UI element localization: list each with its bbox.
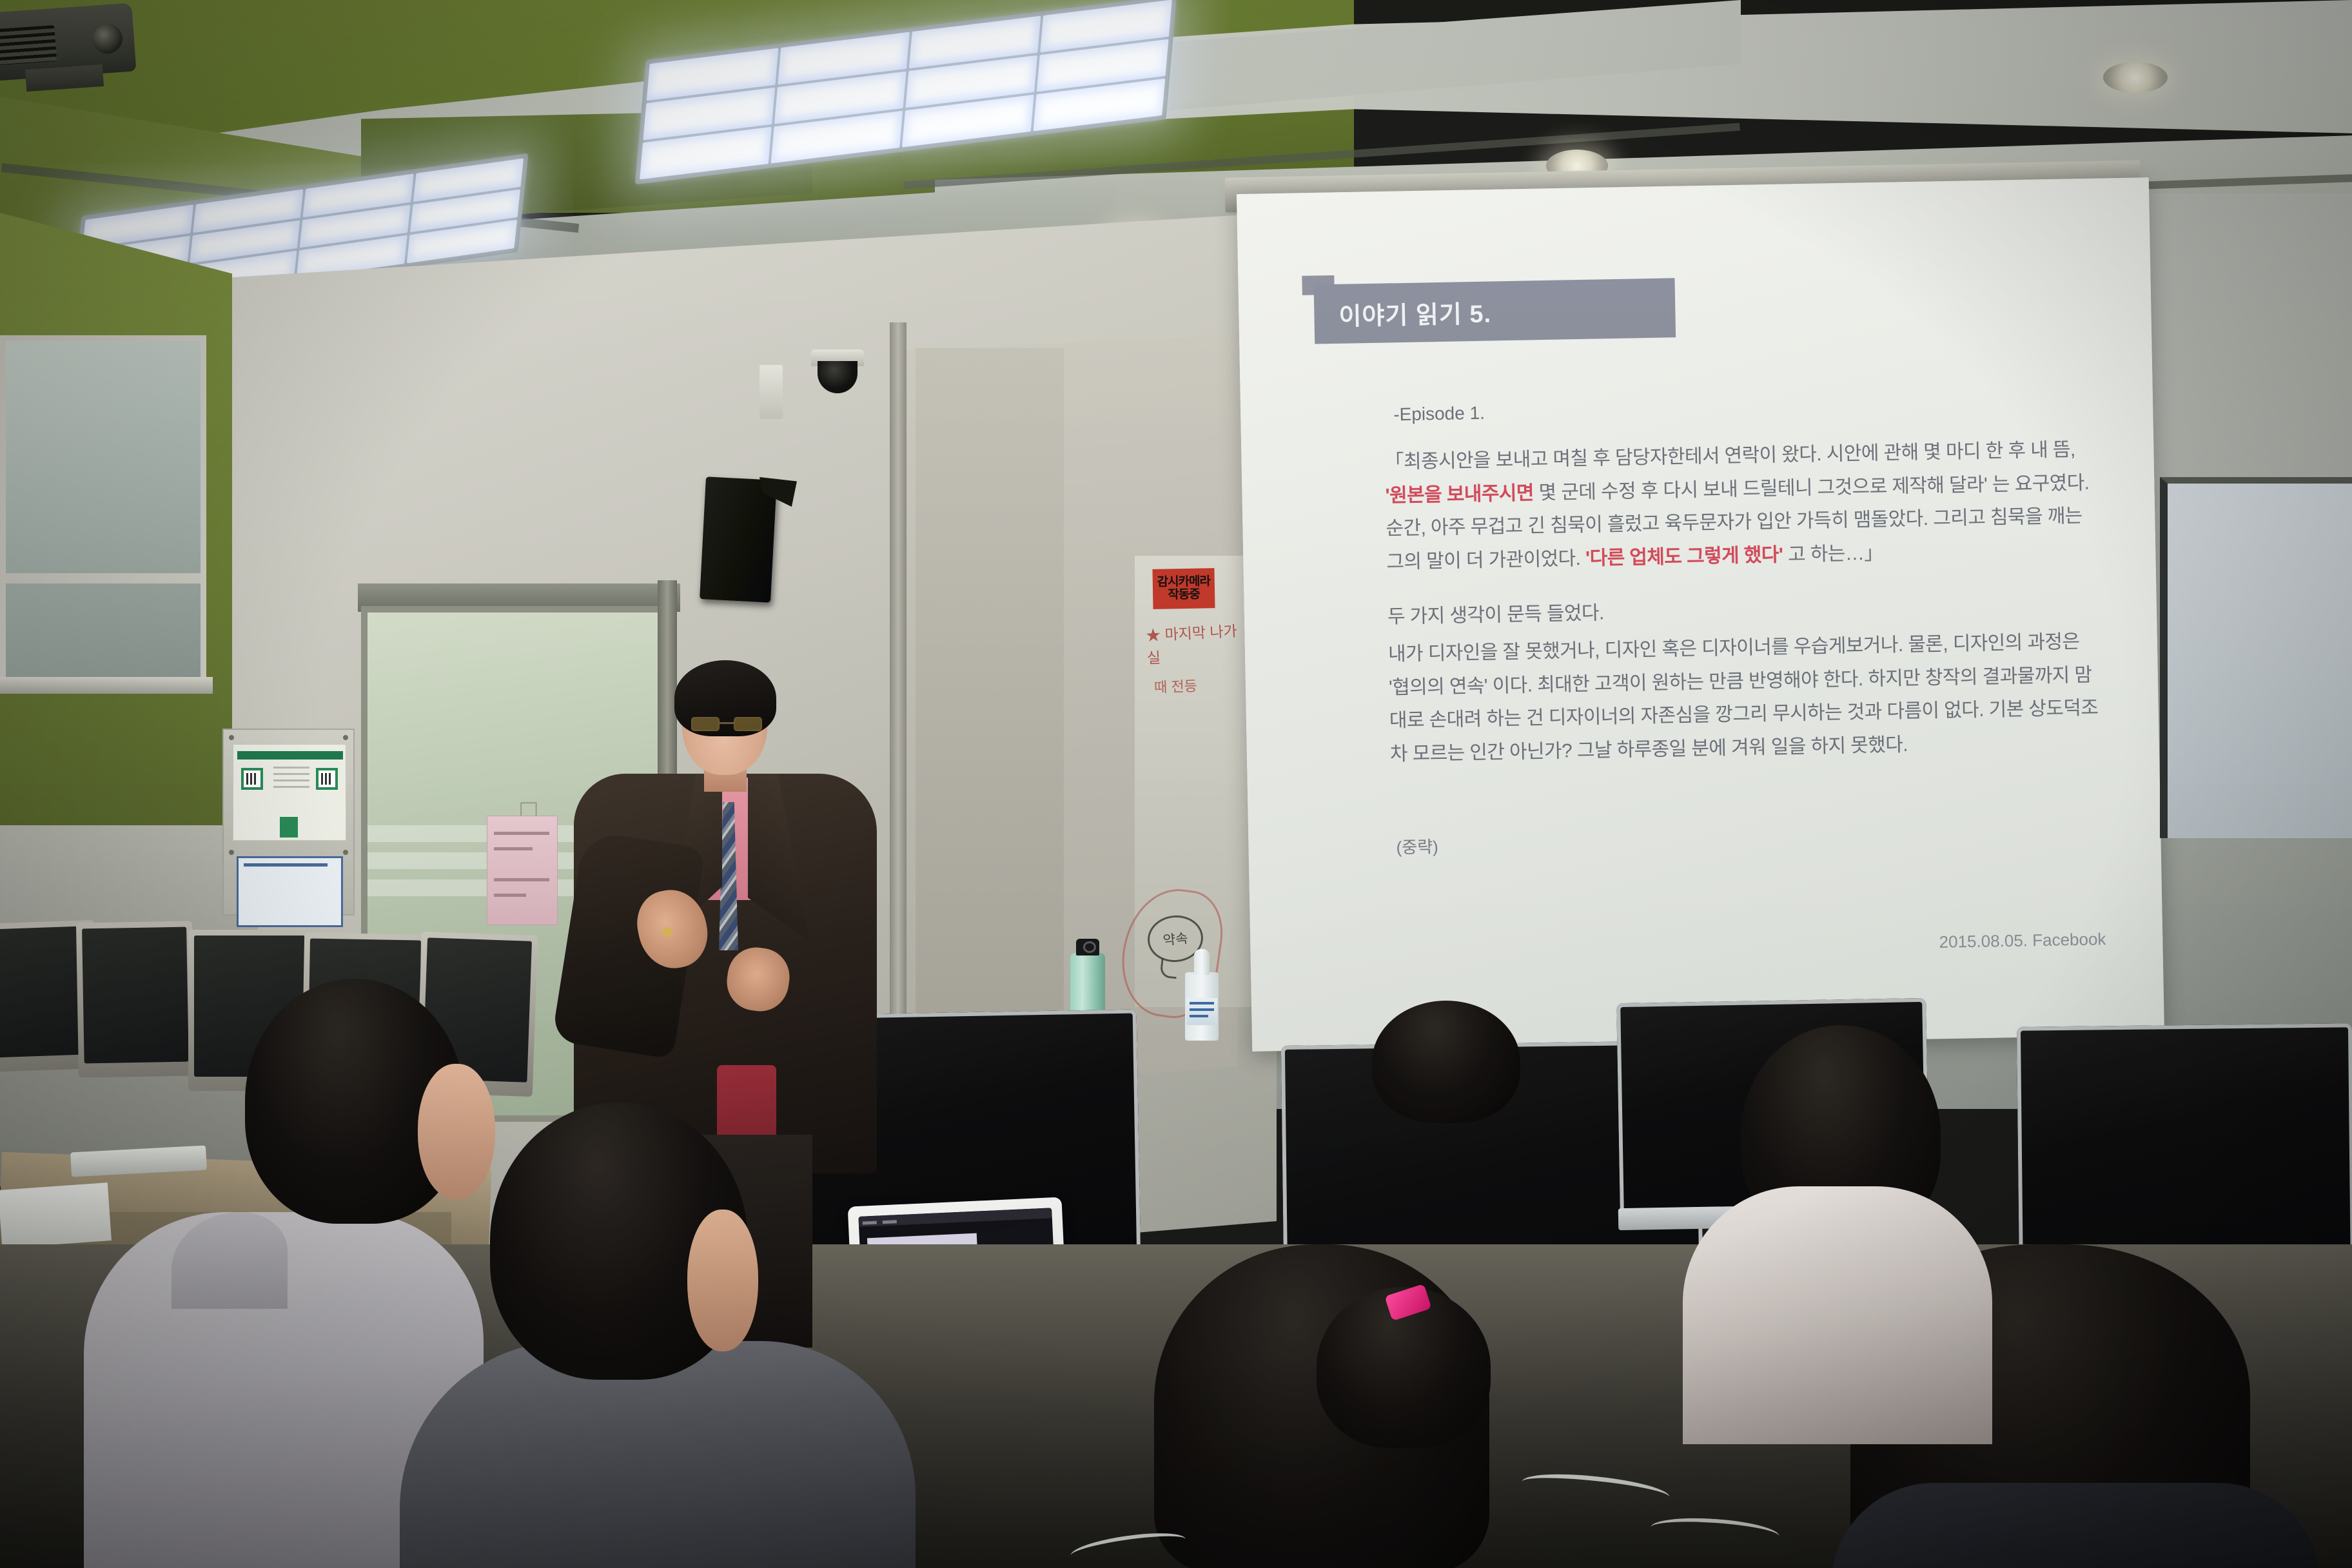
sanitizer-pump bbox=[1194, 949, 1210, 975]
sanitizer-label bbox=[1186, 998, 1217, 1025]
paper-left bbox=[0, 1182, 112, 1248]
window-sill bbox=[0, 677, 213, 694]
p1-part-c: 고 하는…」 bbox=[1783, 542, 1883, 565]
student-5-torso bbox=[1831, 1483, 2321, 1568]
wall-beam bbox=[890, 322, 906, 1128]
ring-icon bbox=[663, 927, 672, 937]
slide-source-line: 2015.08.05. Facebook bbox=[1939, 929, 2106, 952]
student-7-hair bbox=[1372, 1001, 1520, 1123]
seal-icon bbox=[280, 817, 298, 838]
p1-highlight-b: '다른 업체도 그렇게 했다' bbox=[1585, 544, 1783, 569]
student-2-face bbox=[687, 1210, 758, 1351]
slide-omission-marker: (중략) bbox=[1396, 834, 1438, 858]
wall-poster bbox=[237, 856, 343, 927]
monitor-left-2 bbox=[76, 921, 195, 1077]
cctv-sign-line2: 작동중 bbox=[1168, 589, 1200, 602]
window-glass bbox=[6, 341, 201, 678]
p1-highlight-a: '원본을 보내주시면 bbox=[1385, 482, 1534, 506]
recessed-downlight bbox=[2103, 62, 2168, 93]
whiteboard bbox=[2160, 477, 2352, 838]
wall-notice-board bbox=[222, 729, 355, 916]
bottle-cap bbox=[1076, 939, 1099, 955]
handwritten-note-1: ★ 마지막 나가실 bbox=[1145, 620, 1244, 669]
projector-lens-icon bbox=[92, 23, 123, 55]
projected-slide: 이야기 읽기 5. -Episode 1. 「최종시안을 보내고 며칠 후 담당… bbox=[1314, 270, 2133, 1026]
slide-paragraph-1: 「최종시안을 보내고 며칠 후 담당자한테서 연락이 왔다. 시안에 관해 몇 … bbox=[1384, 433, 2102, 579]
student-1-face bbox=[418, 1064, 495, 1199]
window bbox=[0, 335, 206, 683]
slide-title: 이야기 읽기 5. bbox=[1338, 293, 1492, 331]
handwritten-note-2: 때 전등 bbox=[1153, 672, 1257, 697]
qr-code-icon bbox=[241, 768, 263, 790]
classroom-photo:  감시카메라 작동중 ★ 마지막 나가실 때 전등 약속 bbox=[0, 0, 2352, 1568]
glasses-icon bbox=[691, 717, 763, 731]
cctv-sign-line1: 감시카메라 bbox=[1157, 575, 1210, 589]
laptop-menubar bbox=[858, 1208, 1052, 1227]
wall-speaker bbox=[700, 476, 777, 602]
door-poster bbox=[487, 816, 558, 925]
emergency-light bbox=[759, 365, 783, 419]
projector-vents bbox=[0, 25, 57, 65]
slide-episode-label: -Episode 1. bbox=[1393, 403, 1485, 426]
qr-code-icon bbox=[316, 768, 338, 790]
cctv-warning-sign: 감시카메라 작동중 bbox=[1152, 568, 1215, 609]
window-mullion bbox=[6, 573, 201, 583]
slide-body-text: 「최종시안을 보내고 며칠 후 담당자한테서 연락이 왔다. 시안에 관해 몇 … bbox=[1384, 433, 2106, 793]
certificate-plaque bbox=[233, 744, 346, 841]
slide-header-banner: 이야기 읽기 5. bbox=[1314, 278, 1676, 344]
p1-part-a: 「최종시안을 보내고 며칠 후 담당자한테서 연락이 왔다. 시안에 관해 몇 … bbox=[1384, 439, 2075, 473]
wall-panel-b bbox=[916, 348, 1064, 1025]
student-6-torso bbox=[1683, 1186, 1992, 1444]
slide-paragraph-2-line-2: 내가 디자인을 잘 못했거나, 디자인 혹은 디자이너를 우습게보거나. 물론,… bbox=[1388, 625, 2106, 771]
